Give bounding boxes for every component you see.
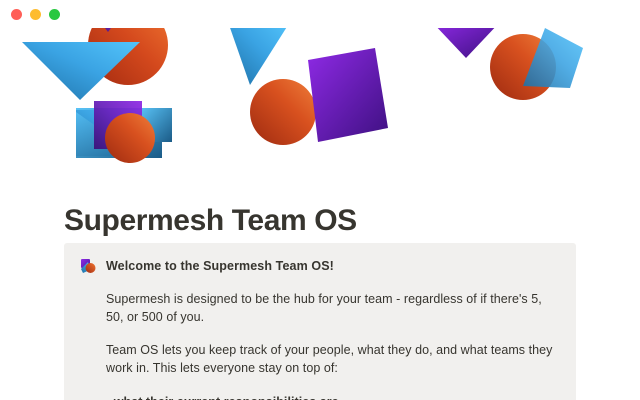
maximize-window-button[interactable] <box>49 9 60 20</box>
welcome-callout: Welcome to the Supermesh Team OS! Superm… <box>64 243 576 400</box>
callout-bullet-1: - what their current responsibilities ar… <box>106 393 560 400</box>
minimize-window-button[interactable] <box>30 9 41 20</box>
banner-square-3 <box>308 48 388 142</box>
close-window-button[interactable] <box>11 9 22 20</box>
banner-circle-2 <box>105 113 155 163</box>
page-title: Supermesh Team OS <box>64 203 357 239</box>
callout-paragraph-1: Supermesh is designed to be the hub for … <box>106 290 560 326</box>
window-titlebar <box>0 0 640 28</box>
banner-circle-3 <box>250 79 316 145</box>
supermesh-logo-icon <box>80 258 96 274</box>
banner-triangle-3 <box>228 22 290 85</box>
window-controls <box>11 9 60 20</box>
callout-title: Welcome to the Supermesh Team OS! <box>106 257 334 275</box>
callout-paragraph-2: Team OS lets you keep track of your peop… <box>106 341 560 377</box>
app-window: Supermesh Team OS <box>0 0 640 400</box>
callout-body: Supermesh is designed to be the hub for … <box>80 275 560 400</box>
callout-header: Welcome to the Supermesh Team OS! <box>80 257 560 275</box>
page-content: Supermesh Team OS <box>0 180 640 400</box>
